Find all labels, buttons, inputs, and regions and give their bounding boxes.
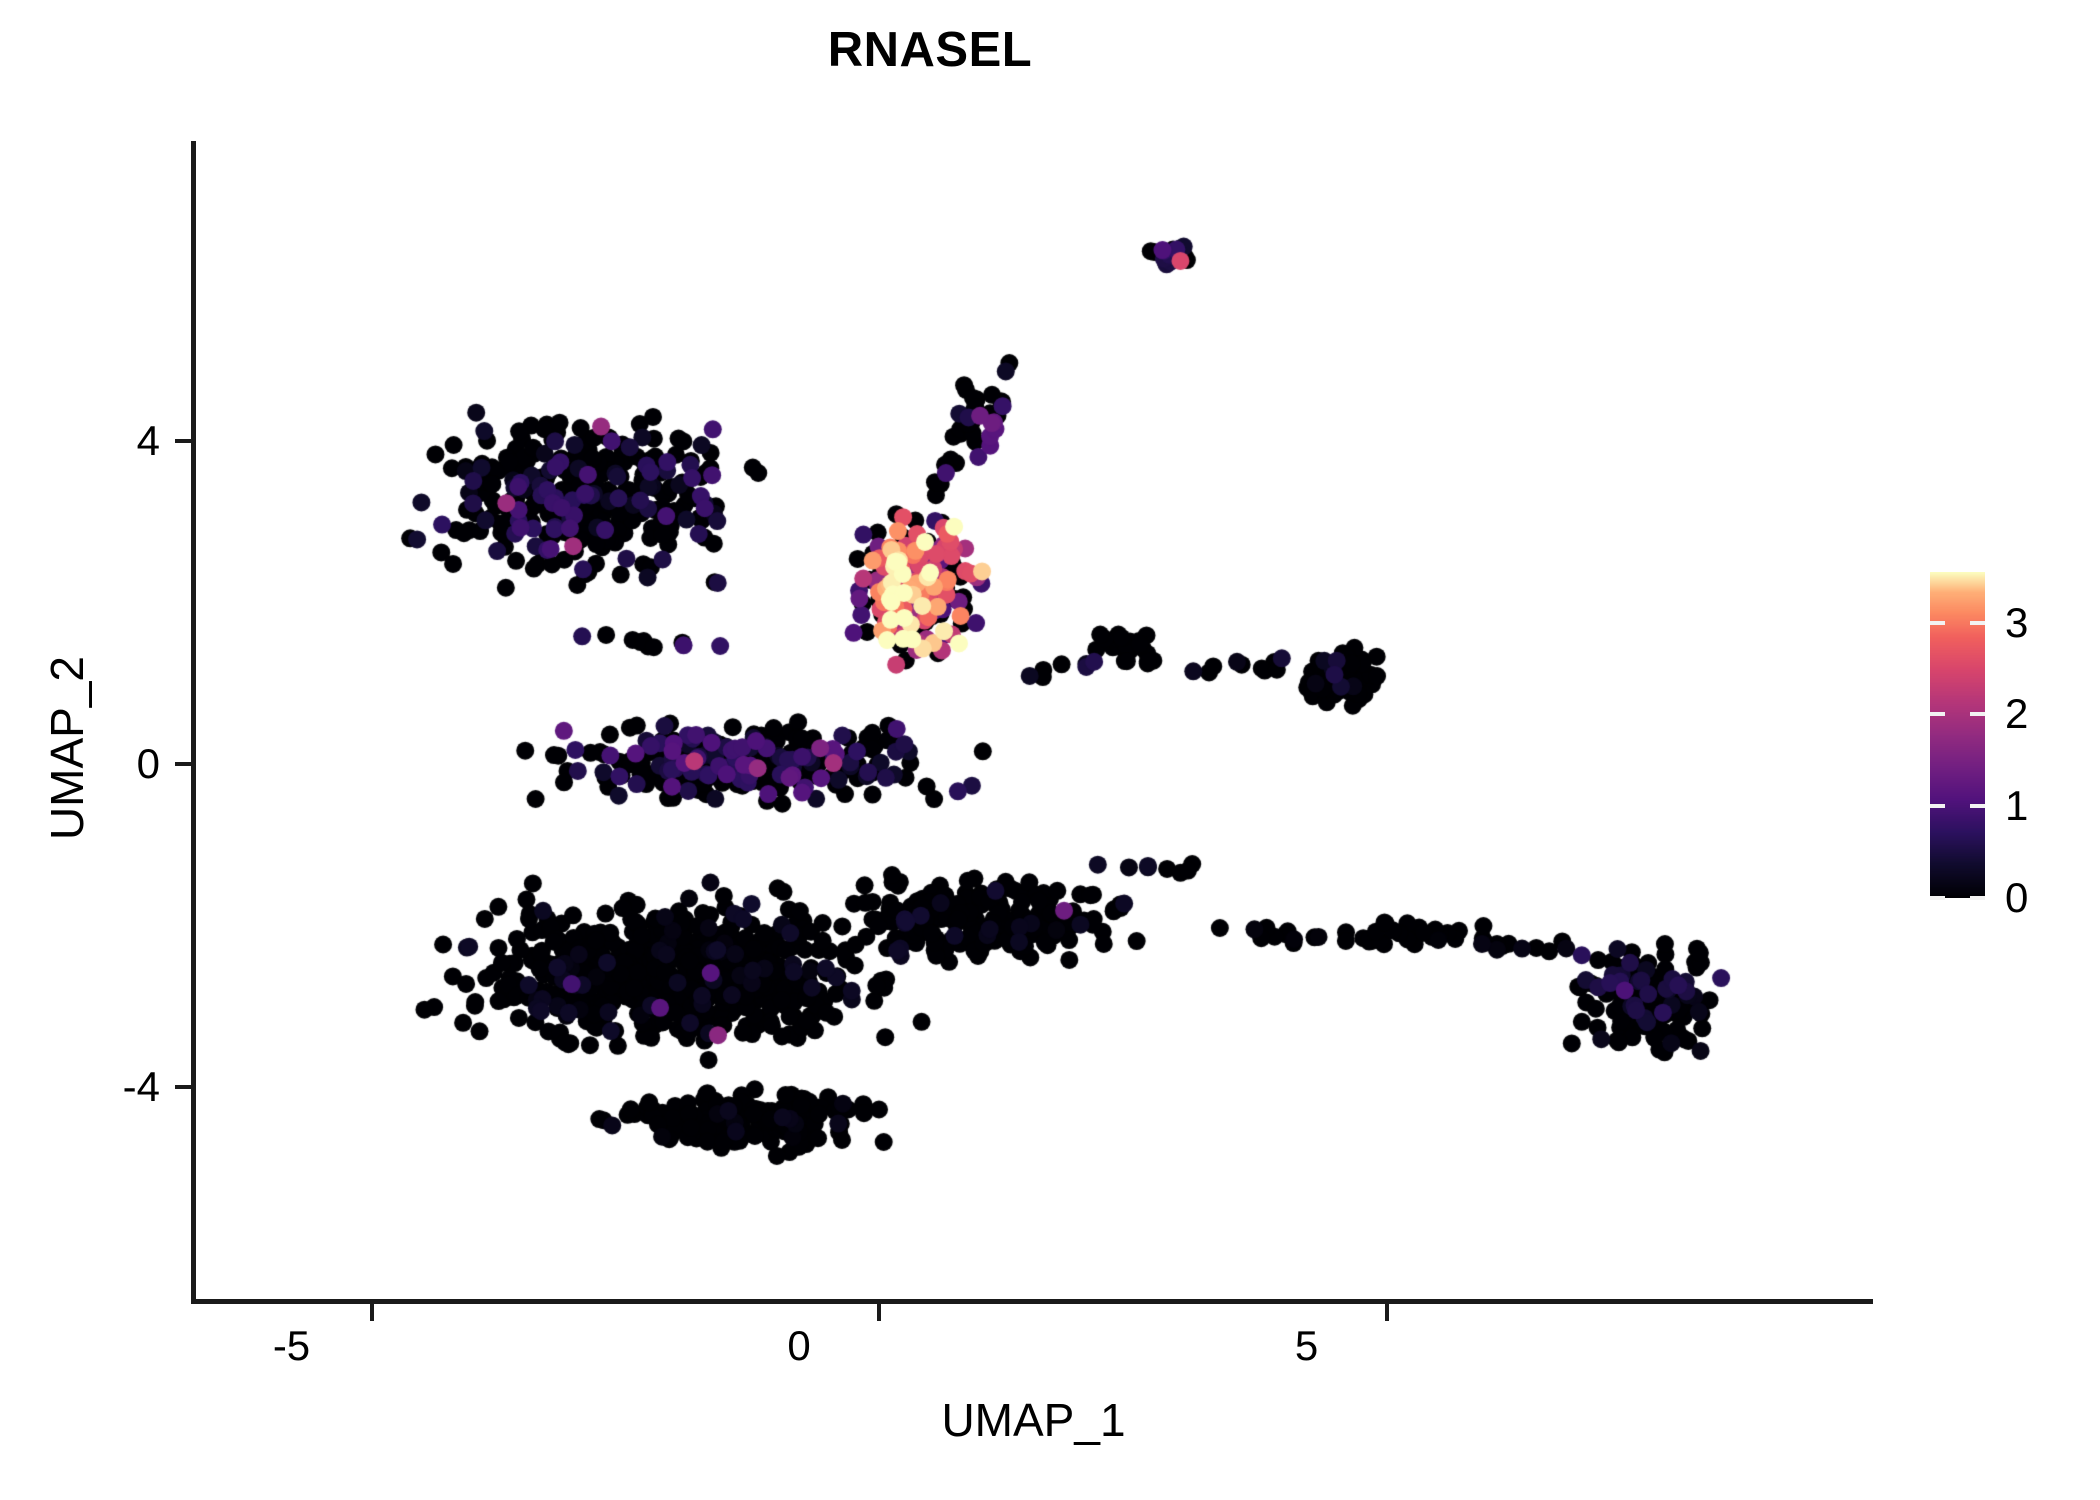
y-axis-title: UMAP_2 — [40, 368, 94, 1128]
chart-root: RNASEL -404 -505 UMAP_1 UMAP_2 0123 — [0, 0, 2100, 1500]
colorbar-tick-mark — [1970, 804, 1985, 808]
colorbar-tick-mark — [1930, 712, 1945, 716]
scatter-points-layer — [194, 141, 1873, 1301]
x-tick-mark — [877, 1304, 881, 1321]
x-tick-mark — [370, 1304, 374, 1321]
colorbar-tick-label: 1 — [2005, 782, 2028, 830]
colorbar-tick-label: 0 — [2005, 874, 2028, 922]
plot-panel — [194, 141, 1873, 1301]
colorbar-tick-mark — [1970, 896, 1985, 900]
y-axis-line — [191, 141, 196, 1304]
colorbar-tick-mark — [1930, 621, 1945, 625]
x-tick-label: 0 — [719, 1322, 879, 1370]
x-tick-mark — [1385, 1304, 1389, 1321]
colorbar-tick-mark — [1970, 712, 1985, 716]
colorbar-tick-label: 3 — [2005, 599, 2028, 647]
colorbar-tick-mark — [1970, 621, 1985, 625]
y-tick-mark — [175, 1085, 192, 1089]
colorbar-tick-label: 2 — [2005, 690, 2028, 738]
page-title: RNASEL — [0, 22, 2100, 78]
x-axis-title: UMAP_1 — [194, 1393, 1873, 1447]
colorbar-tick-mark — [1930, 896, 1945, 900]
x-tick-label: 5 — [1227, 1322, 1387, 1370]
x-tick-label: -5 — [212, 1322, 372, 1370]
y-tick-mark — [175, 439, 192, 443]
y-tick-mark — [175, 762, 192, 766]
colorbar-tick-mark — [1930, 804, 1945, 808]
x-axis-line — [191, 1299, 1873, 1304]
